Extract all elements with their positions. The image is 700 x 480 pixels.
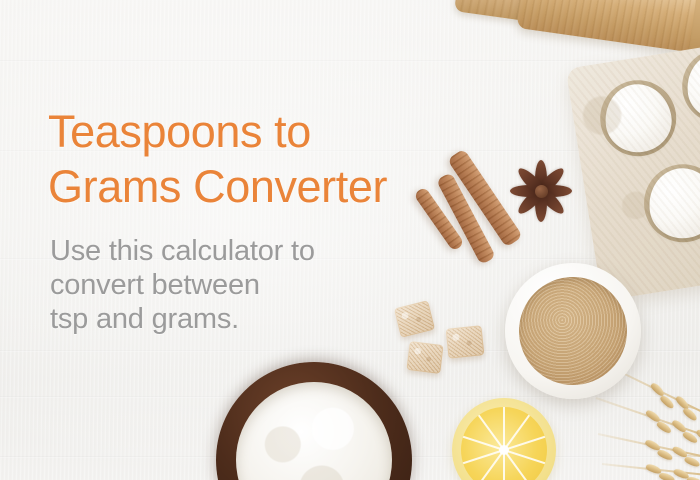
hero-text-block: Teaspoons to Grams Converter Use this ca… bbox=[48, 104, 428, 336]
egg-cup bbox=[595, 75, 682, 162]
hero-banner: Teaspoons to Grams Converter Use this ca… bbox=[0, 0, 700, 480]
egg-cup bbox=[677, 44, 700, 129]
page-subtitle: Use this calculator to convert between t… bbox=[50, 234, 428, 336]
wheat-stalk bbox=[602, 464, 700, 475]
lemon-flesh bbox=[461, 407, 547, 480]
sugar-cube bbox=[406, 341, 443, 374]
brown-sugar-contents bbox=[519, 277, 627, 385]
egg bbox=[600, 79, 676, 156]
egg bbox=[682, 49, 700, 124]
wheat-grain bbox=[684, 455, 700, 468]
anise-core bbox=[535, 185, 548, 198]
sugar-cube bbox=[446, 325, 485, 359]
egg-cup bbox=[638, 159, 700, 248]
brown-sugar-bowl-icon bbox=[505, 263, 641, 399]
egg bbox=[644, 163, 700, 243]
star-anise-icon bbox=[508, 158, 574, 224]
wheat-grain bbox=[686, 476, 700, 480]
plank-seam bbox=[0, 60, 700, 62]
lemon-segment bbox=[503, 407, 505, 450]
lemon-core bbox=[499, 445, 509, 455]
flour-contents bbox=[236, 382, 392, 480]
page-title: Teaspoons to Grams Converter bbox=[48, 104, 428, 214]
